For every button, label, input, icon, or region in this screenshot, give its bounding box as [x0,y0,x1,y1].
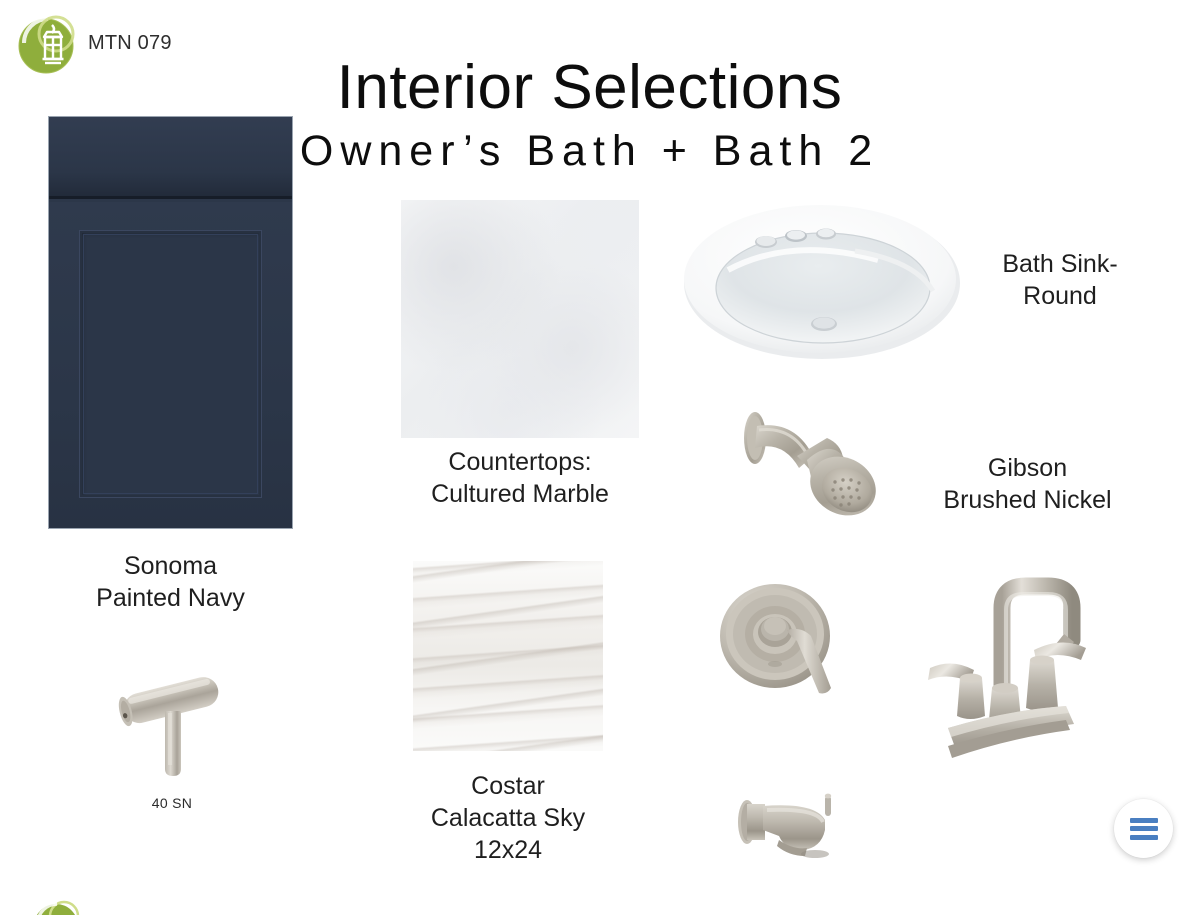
cabinet-drawer-front [49,117,292,199]
next-slide-logo-icon [30,896,86,915]
caption-knob: 40 SN [108,795,236,813]
hamburger-menu-icon [1130,818,1158,840]
cabinet-recessed-panel [79,230,262,498]
tile-swatch [413,561,603,751]
cabinet-knob-image [108,655,236,785]
caption-showerhead: Gibson Brushed Nickel [895,452,1160,516]
tub-spout-image [733,790,885,858]
slide-canvas: MTN 079 Interior Selections Owner’s Bath… [0,0,1179,915]
countertop-swatch [401,200,639,438]
bath-sink-image [680,196,965,364]
cabinet-door-sample [48,116,293,529]
lavatory-faucet-image [918,560,1108,775]
caption-sink: Bath Sink- Round [965,248,1155,312]
menu-fab-button[interactable] [1114,799,1173,858]
cabinet-door-body [49,202,292,528]
page-title: Interior Selections [0,55,1179,120]
caption-tile: Costar Calacatta Sky 12x24 [408,770,608,866]
caption-countertop: Countertops: Cultured Marble [400,446,640,510]
caption-cabinet: Sonoma Painted Navy [48,550,293,614]
project-code: MTN 079 [88,32,172,55]
shower-valve-trim-image [715,580,853,702]
showerhead-image [735,390,895,530]
